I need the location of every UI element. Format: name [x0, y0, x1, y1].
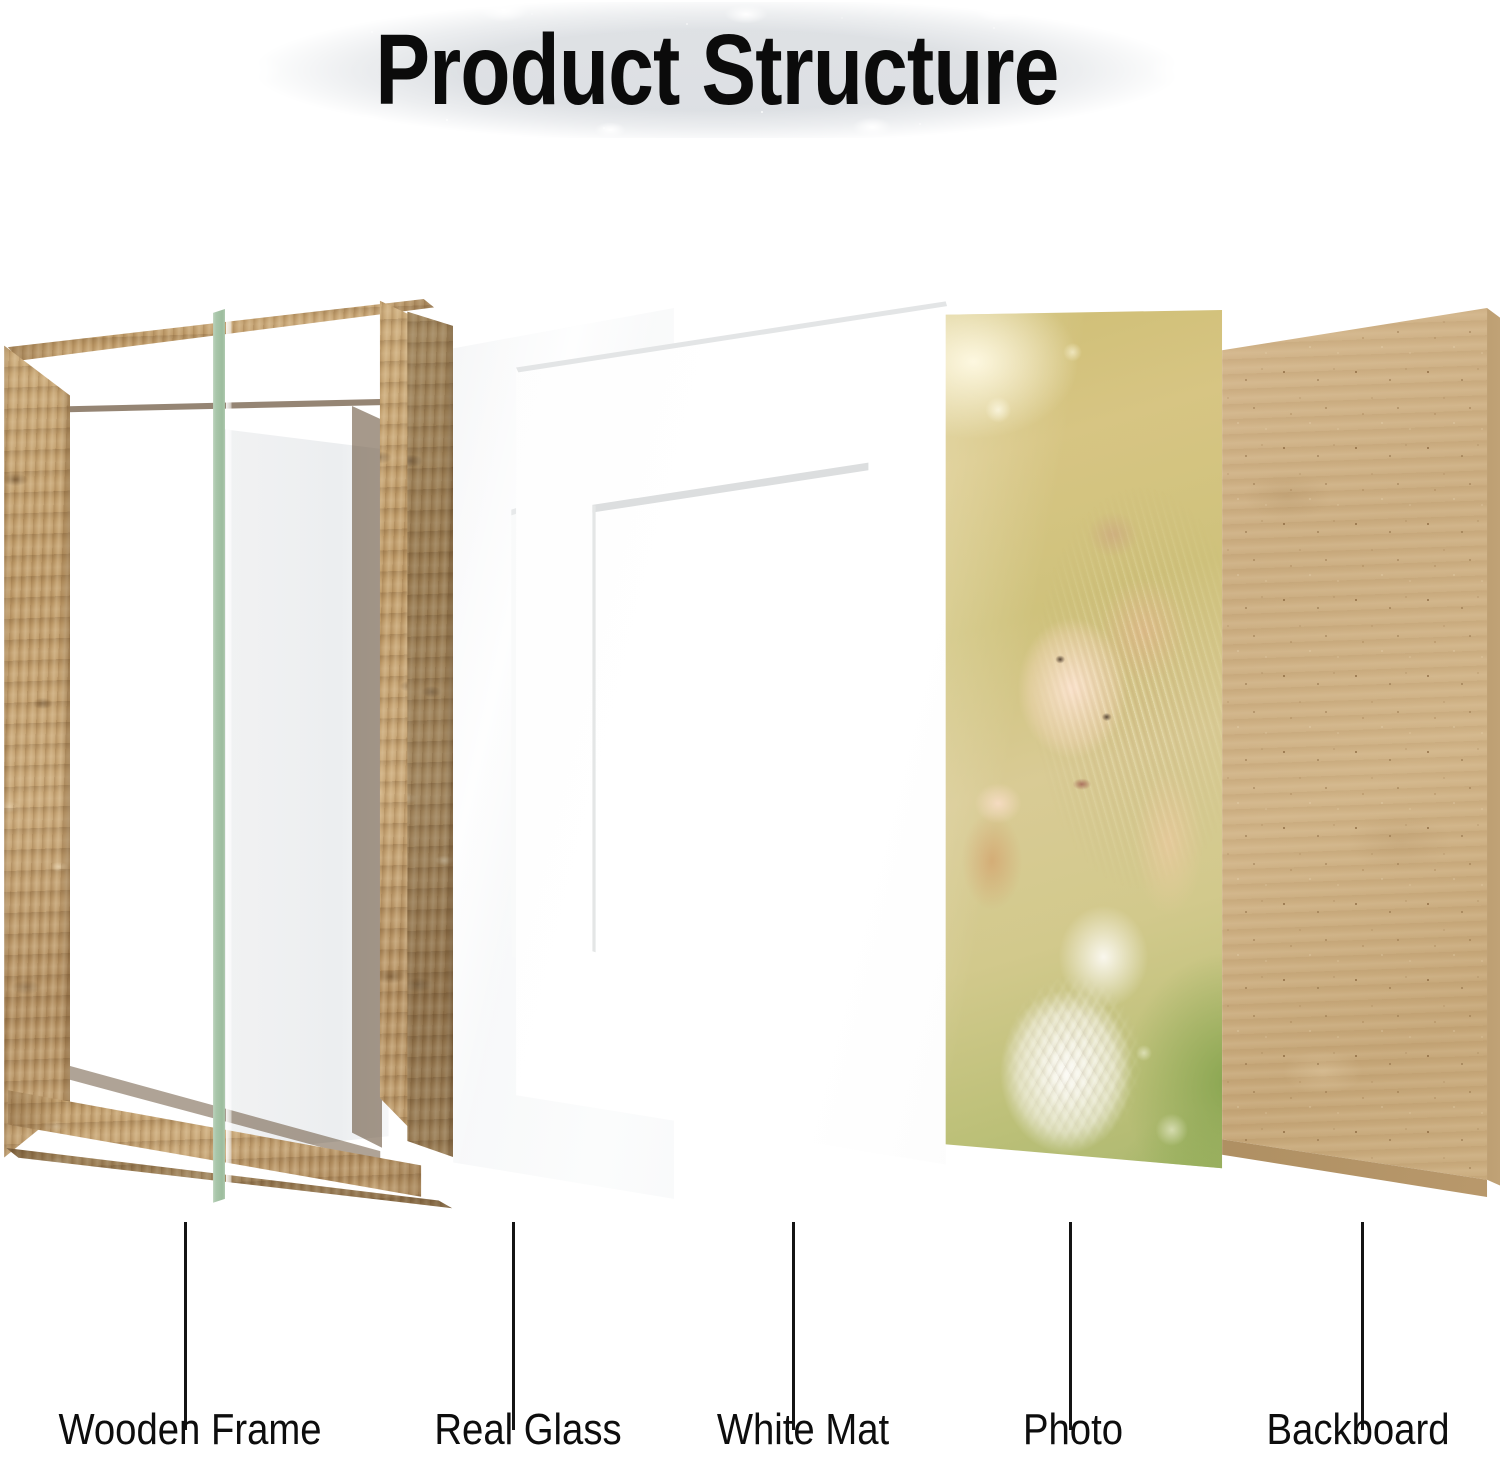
- leader-line-wooden-frame: [184, 1222, 187, 1430]
- leader-line-photo: [1069, 1222, 1072, 1430]
- caption-backboard: Backboard: [0, 1404, 1500, 1456]
- caption-label-backboard: Backboard: [1266, 1408, 1449, 1452]
- leader-line-backboard: [1361, 1222, 1364, 1430]
- leader-line-real-glass: [512, 1222, 515, 1430]
- leader-line-white-mat: [792, 1222, 795, 1430]
- callout-group: Wooden Frame Real Glass White Mat Photo …: [0, 0, 1500, 1473]
